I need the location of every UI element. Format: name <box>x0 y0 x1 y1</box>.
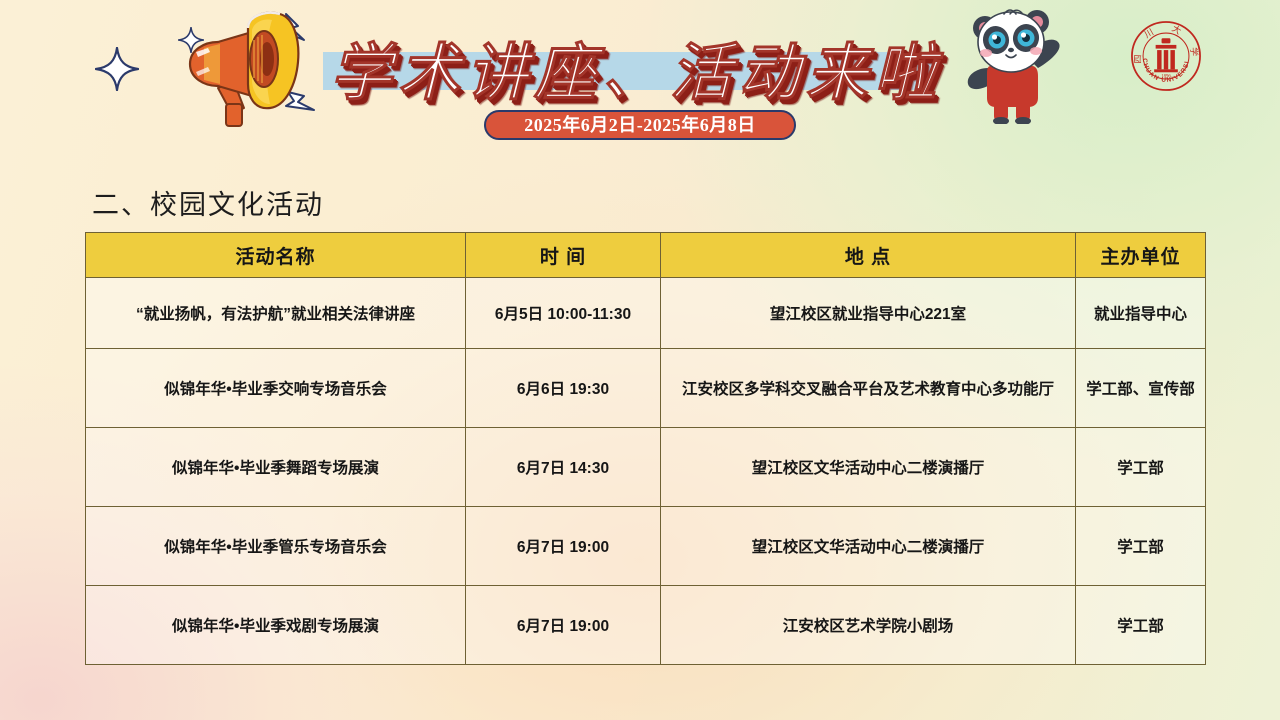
cell-time: 6月5日 10:00-11:30 <box>466 278 661 349</box>
table-row: 似锦年华•毕业季管乐专场音乐会 6月7日 19:00 望江校区文华活动中心二楼演… <box>86 507 1206 586</box>
megaphone-icon <box>148 4 320 136</box>
cell-organizer: 学工部 <box>1076 507 1206 586</box>
panda-mascot-icon <box>958 2 1068 124</box>
table-row: “就业扬帆，有法护航”就业相关法律讲座 6月5日 10:00-11:30 望江校… <box>86 278 1206 349</box>
cell-place: 望江校区就业指导中心221室 <box>661 278 1076 349</box>
cell-activity-name: 似锦年华•毕业季戏剧专场展演 <box>86 586 466 665</box>
poster-header: 学术讲座、活动来啦 2025年6月2日-2025年6月8日 <box>0 0 1280 160</box>
cell-time: 6月7日 14:30 <box>466 428 661 507</box>
date-range-badge: 2025年6月2日-2025年6月8日 <box>484 110 796 140</box>
table-header-row: 活动名称 时 间 地 点 主办单位 <box>86 233 1206 278</box>
cell-activity-name: “就业扬帆，有法护航”就业相关法律讲座 <box>86 278 466 349</box>
page-title: 学术讲座、活动来啦 <box>330 22 930 112</box>
sparkle-icon <box>95 47 139 91</box>
schedule-table: 活动名称 时 间 地 点 主办单位 “就业扬帆，有法护航”就业相关法律讲座 6月… <box>85 232 1206 665</box>
cell-activity-name: 似锦年华•毕业季交响专场音乐会 <box>86 349 466 428</box>
logo-year: 1896 <box>1161 74 1171 79</box>
column-header-activity-name: 活动名称 <box>86 233 466 278</box>
table-row: 似锦年华•毕业季舞蹈专场展演 6月7日 14:30 望江校区文华活动中心二楼演播… <box>86 428 1206 507</box>
table-row: 似锦年华•毕业季戏剧专场展演 6月7日 19:00 江安校区艺术学院小剧场 学工… <box>86 586 1206 665</box>
cell-organizer: 学工部 <box>1076 586 1206 665</box>
cell-activity-name: 似锦年华•毕业季管乐专场音乐会 <box>86 507 466 586</box>
cell-organizer: 学工部 <box>1076 428 1206 507</box>
cell-place: 望江校区文华活动中心二楼演播厅 <box>661 507 1076 586</box>
cell-time: 6月7日 19:00 <box>466 507 661 586</box>
column-header-organizer: 主办单位 <box>1076 233 1206 278</box>
poster-canvas: 学术讲座、活动来啦 2025年6月2日-2025年6月8日 <box>0 0 1280 720</box>
cell-place: 江安校区艺术学院小剧场 <box>661 586 1076 665</box>
column-header-time: 时 间 <box>466 233 661 278</box>
column-header-place: 地 点 <box>661 233 1076 278</box>
cell-place: 江安校区多学科交叉融合平台及艺术教育中心多功能厅 <box>661 349 1076 428</box>
table-row: 似锦年华•毕业季交响专场音乐会 6月6日 19:30 江安校区多学科交叉融合平台… <box>86 349 1206 428</box>
cell-activity-name: 似锦年华•毕业季舞蹈专场展演 <box>86 428 466 507</box>
schedule-table-wrap: 活动名称 时 间 地 点 主办单位 “就业扬帆，有法护航”就业相关法律讲座 6月… <box>85 232 1205 665</box>
cell-time: 6月7日 19:00 <box>466 586 661 665</box>
cell-place: 望江校区文华活动中心二楼演播厅 <box>661 428 1076 507</box>
cell-organizer: 就业指导中心 <box>1076 278 1206 349</box>
section-heading: 二、校园文化活动 <box>92 183 324 222</box>
cell-time: 6月6日 19:30 <box>466 349 661 428</box>
sichuan-university-logo: 四 川 大 学 SICHUAN UNIVERSITY 1896 <box>1129 19 1203 93</box>
cell-organizer: 学工部、宣传部 <box>1076 349 1206 428</box>
